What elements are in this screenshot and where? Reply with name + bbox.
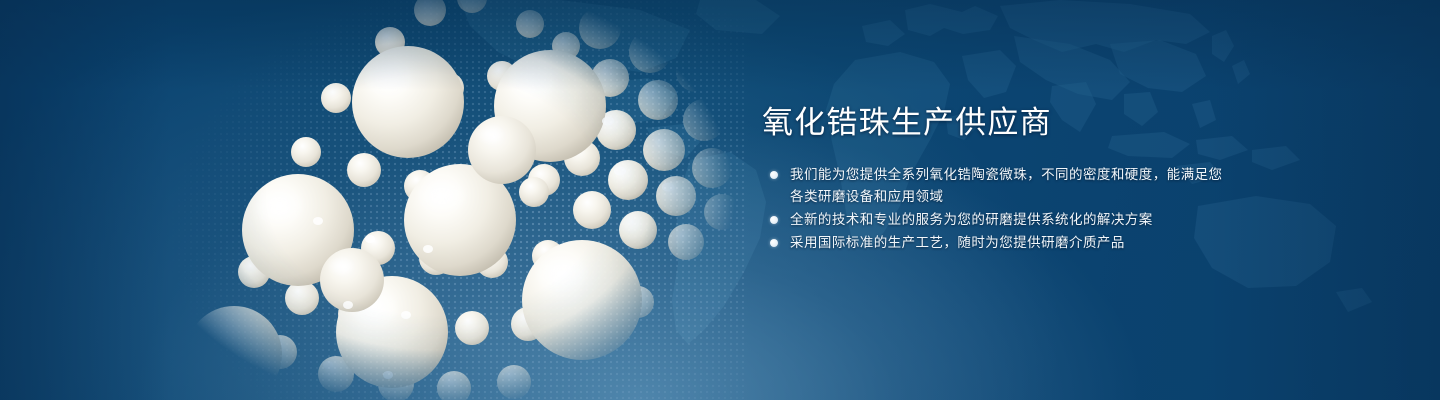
bullet-dot-icon [770,239,778,247]
feature-list: 我们能为您提供全系列氧化锆陶瓷微珠，不同的密度和硬度，能满足您各类研磨设备和应用… [762,164,1232,254]
list-item-label: 采用国际标准的生产工艺，随时为您提供研磨介质产品 [790,235,1125,250]
page-title: 氧化锆珠生产供应商 [762,104,1232,142]
list-item: 采用国际标准的生产工艺，随时为您提供研磨介质产品 [762,232,1232,254]
bullet-dot-icon [770,216,778,224]
list-item-label: 我们能为您提供全系列氧化锆陶瓷微珠，不同的密度和硬度，能满足您各类研磨设备和应用… [790,167,1222,204]
bullet-dot-icon [770,171,778,179]
hero-banner: 氧化锆珠生产供应商 我们能为您提供全系列氧化锆陶瓷微珠，不同的密度和硬度，能满足… [0,0,1440,400]
list-item: 全新的技术和专业的服务为您的研磨提供系统化的解决方案 [762,209,1232,231]
list-item-label: 全新的技术和专业的服务为您的研磨提供系统化的解决方案 [790,212,1153,227]
list-item: 我们能为您提供全系列氧化锆陶瓷微珠，不同的密度和硬度，能满足您各类研磨设备和应用… [762,164,1232,208]
banner-copy: 氧化锆珠生产供应商 我们能为您提供全系列氧化锆陶瓷微珠，不同的密度和硬度，能满足… [762,104,1232,255]
